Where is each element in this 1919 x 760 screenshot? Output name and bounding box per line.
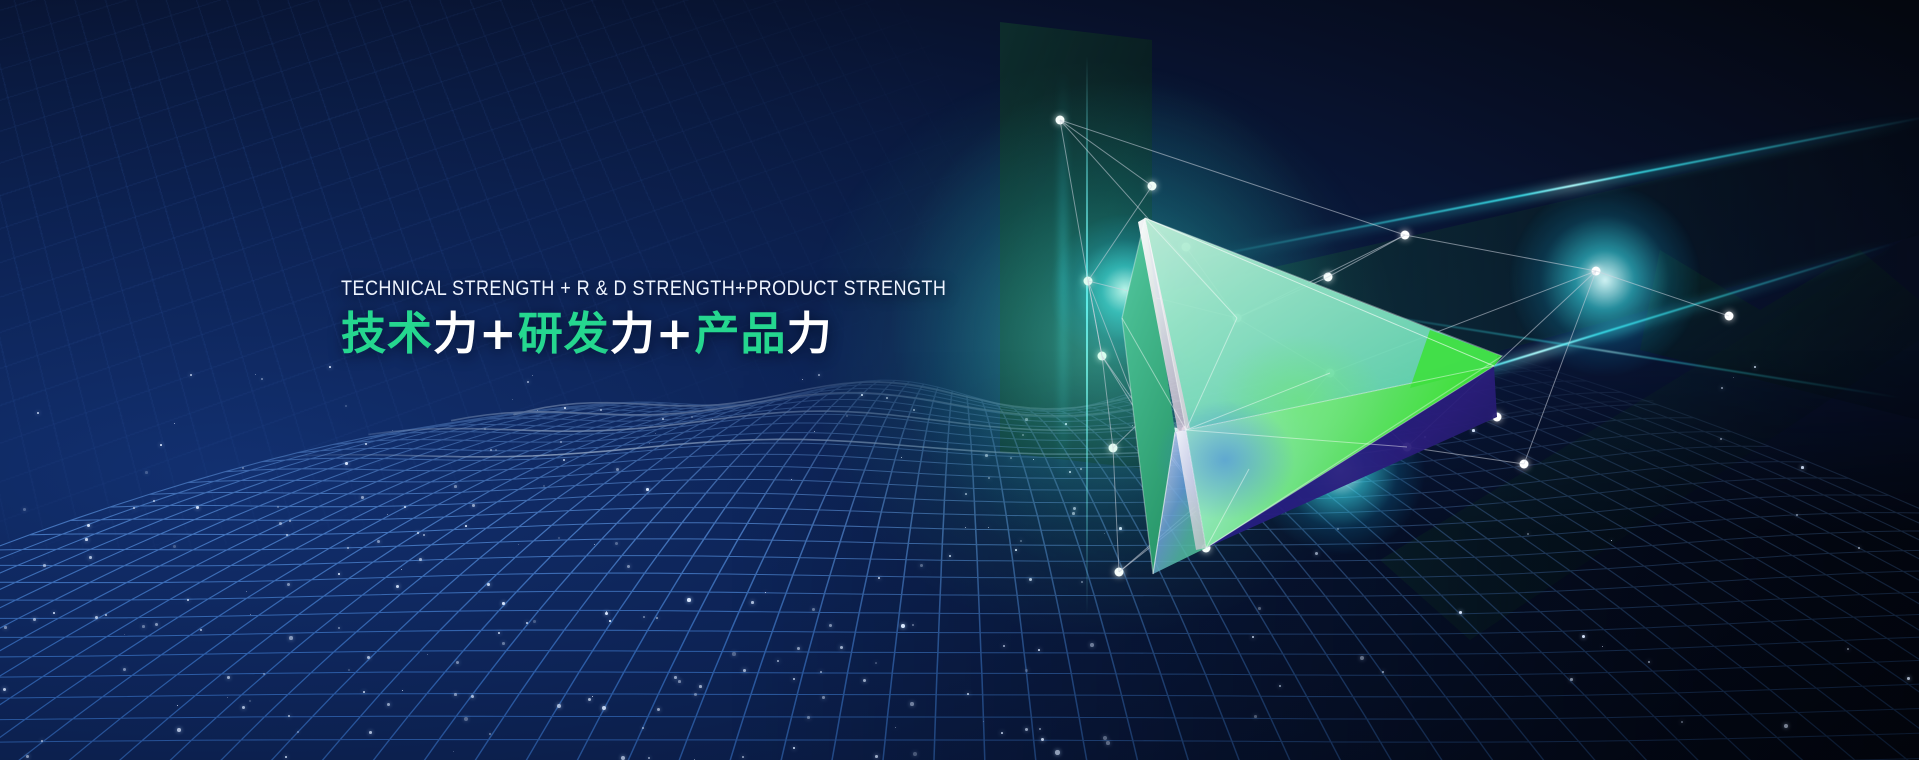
- headline-cn-segment-6: 产品: [695, 307, 787, 360]
- headline-cn-segment-4: 力: [610, 307, 656, 360]
- hero-banner: TECHNICAL STRENGTH + R & D STRENGTH+PROD…: [0, 0, 1919, 760]
- headline-cn-segment-2: +: [479, 307, 518, 360]
- prism-graphic: [0, 0, 1919, 760]
- headline-cn-segment-7: 力: [787, 307, 833, 360]
- headline-cn-segment-0: 技术: [341, 307, 433, 360]
- headline-cn-segment-3: 研发: [518, 307, 610, 360]
- headline-cn-segment-1: 力: [433, 307, 479, 360]
- headline-chinese: 技术力+研发力+产品力: [341, 309, 1045, 359]
- headline-cn-segment-5: +: [656, 307, 695, 360]
- headline-block: TECHNICAL STRENGTH + R & D STRENGTH+PROD…: [341, 277, 1045, 359]
- headline-english: TECHNICAL STRENGTH + R & D STRENGTH+PROD…: [341, 277, 946, 300]
